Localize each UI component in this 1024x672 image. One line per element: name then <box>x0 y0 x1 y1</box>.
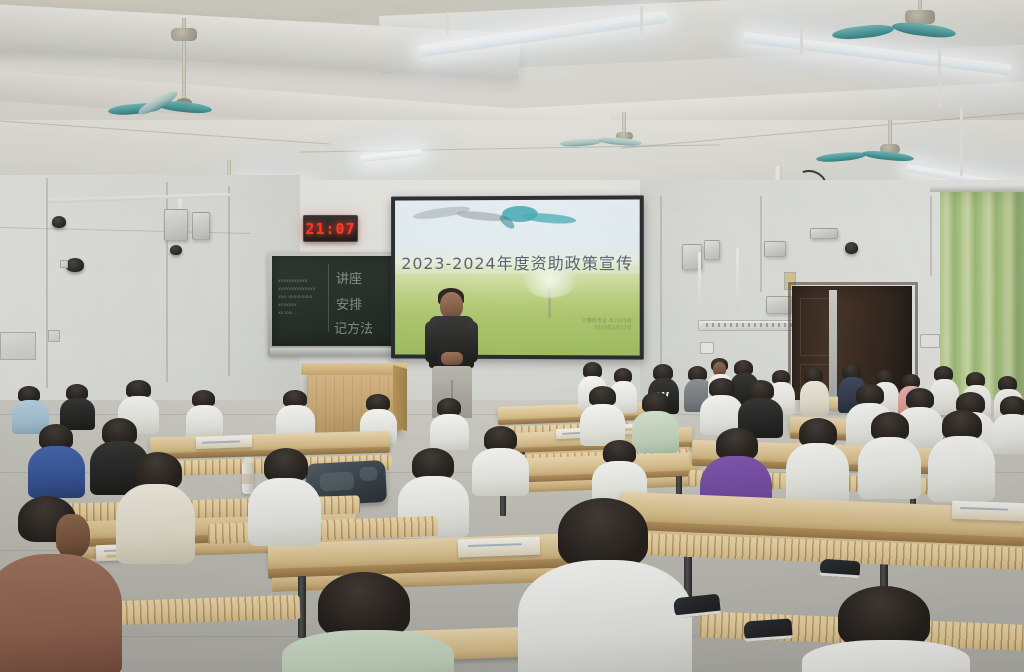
wall-plate <box>0 332 36 360</box>
chalk-text: XXXXXXX <box>278 302 297 307</box>
open-textbook <box>196 435 252 449</box>
shoe <box>819 559 860 579</box>
electrical-box <box>704 240 720 260</box>
student <box>700 378 742 434</box>
chalk-heading: 安排 <box>336 298 362 313</box>
ceiling-fan <box>142 18 226 136</box>
wall-speaker <box>52 216 66 228</box>
chalk-heading: 讲座 <box>336 272 362 287</box>
electrical-box <box>192 212 210 240</box>
student <box>858 412 920 496</box>
wall-hook <box>48 330 60 342</box>
chalk-text: XXXXXXXXXXXXXX <box>278 286 315 291</box>
student <box>786 418 848 502</box>
presenter-arm <box>425 321 438 363</box>
student <box>186 390 222 436</box>
student <box>472 426 528 492</box>
wall-speaker <box>66 258 84 272</box>
wall-speaker <box>170 245 182 255</box>
electrical-box <box>810 228 838 239</box>
slide-subtitle-line1: 计算机专业 本2023级 <box>582 318 632 325</box>
clock-time: 21:07 <box>305 220 355 238</box>
student <box>580 386 624 444</box>
student <box>536 498 672 672</box>
slide-subtitle: 计算机专业 本2023级 2023年5月17日 <box>582 318 632 332</box>
student <box>992 396 1024 452</box>
ceiling-fan <box>872 0 968 58</box>
shoe <box>743 618 792 641</box>
classroom-photo: XXXXXXXXXXX XXXXXXXXXXXXXX XXX XXXXXXXXX… <box>0 0 1024 672</box>
ceiling-fan <box>848 120 932 180</box>
led-wall-clock: 21:07 <box>303 215 358 242</box>
student <box>800 368 828 414</box>
student <box>28 424 84 496</box>
chalk-heading: 记方法 <box>334 322 373 337</box>
student <box>248 448 320 542</box>
door-opening <box>829 290 837 412</box>
student <box>430 398 468 448</box>
student <box>116 452 194 560</box>
wall-fitting <box>60 260 68 268</box>
blackboard: XXXXXXXXXXX XXXXXXXXXXXXXX XXX XXXXXXXXX… <box>268 252 402 356</box>
blackboard-surface: XXXXXXXXXXX XXXXXXXXXXXXXX XXX XXXXXXXXX… <box>272 256 398 346</box>
conduit <box>698 252 701 314</box>
open-textbook <box>458 537 541 558</box>
presenter-arm <box>465 321 478 363</box>
student <box>810 586 960 672</box>
lectern-top <box>301 363 407 375</box>
slide-title: 2023-2024年度资助政策宣传 <box>395 250 640 274</box>
wall-speaker <box>845 242 858 254</box>
student <box>0 496 104 672</box>
slide-subtitle-line2: 2023年5月17日 <box>582 325 632 332</box>
ceiling-fan <box>588 112 660 164</box>
conduit <box>736 248 739 314</box>
wall-socket <box>700 342 714 354</box>
chalk-tray <box>270 348 400 356</box>
wall-socket <box>920 334 940 348</box>
presenter-head <box>440 292 463 319</box>
chalk-text: XXX XXXXXXXXX <box>278 294 312 299</box>
chalk-text: XX XXX ... <box>278 310 297 315</box>
chalk-text: XXXXXXXXXXX <box>278 278 307 283</box>
student <box>60 384 94 428</box>
presenter-hands <box>441 352 463 365</box>
student <box>292 572 442 672</box>
power-strip <box>698 320 796 331</box>
student <box>928 410 994 500</box>
open-textbook <box>952 501 1024 522</box>
electrical-box <box>164 209 188 241</box>
electrical-box <box>764 241 786 257</box>
